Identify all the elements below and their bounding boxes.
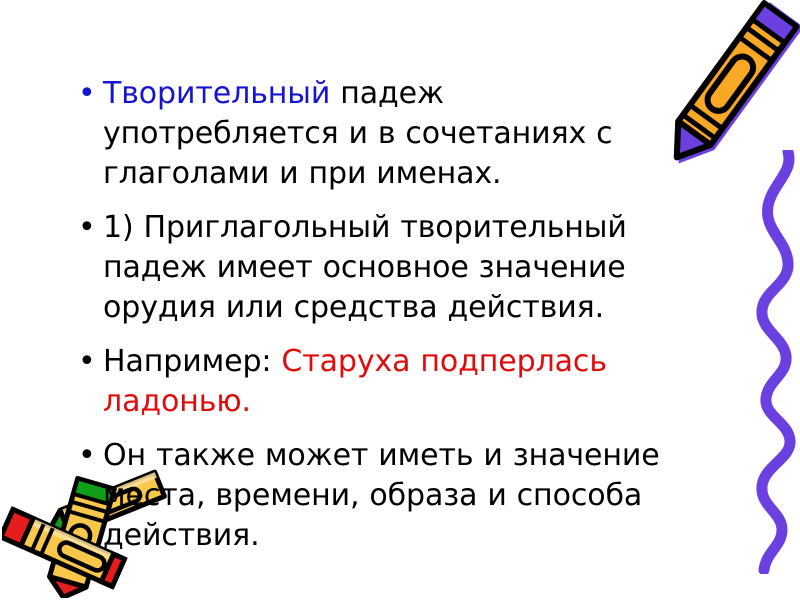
slide-canvas: • Творительный падеж употребляется и в с… [0,0,800,600]
bullet-2-segment-1: 1) Приглагольный творительный падеж имее… [103,210,627,325]
bullet-3-segment-1: Например: [103,344,281,379]
bullet-item-4: • Он также может иметь и значение места,… [72,436,684,556]
bullet-marker-icon: • [72,436,103,476]
bullet-marker-icon: • [72,208,103,248]
bullet-marker-icon: • [72,342,103,382]
bullet-text-1: Творительный падеж употребляется и в соч… [103,74,684,194]
bullet-text-3: Например: Старуха подперлась ладонью. [103,342,684,422]
bullet-text-4: Он также может иметь и значение места, в… [103,436,684,556]
bullet-1-segment-1: Творительный [103,76,330,111]
purple-squiggle-line [676,150,800,574]
bullet-4-segment-1: Он также может иметь и значение места, в… [103,438,660,553]
bullet-marker-icon: • [72,74,103,114]
bullet-item-1: • Творительный падеж употребляется и в с… [72,74,684,194]
bullet-item-2: • 1) Приглагольный творительный падеж им… [72,208,684,328]
bullet-text-2: 1) Приглагольный творительный падеж имее… [103,208,684,328]
bullet-item-3: • Например: Старуха подперлась ладонью. [72,342,684,422]
slide-body: • Творительный падеж употребляется и в с… [72,74,684,556]
